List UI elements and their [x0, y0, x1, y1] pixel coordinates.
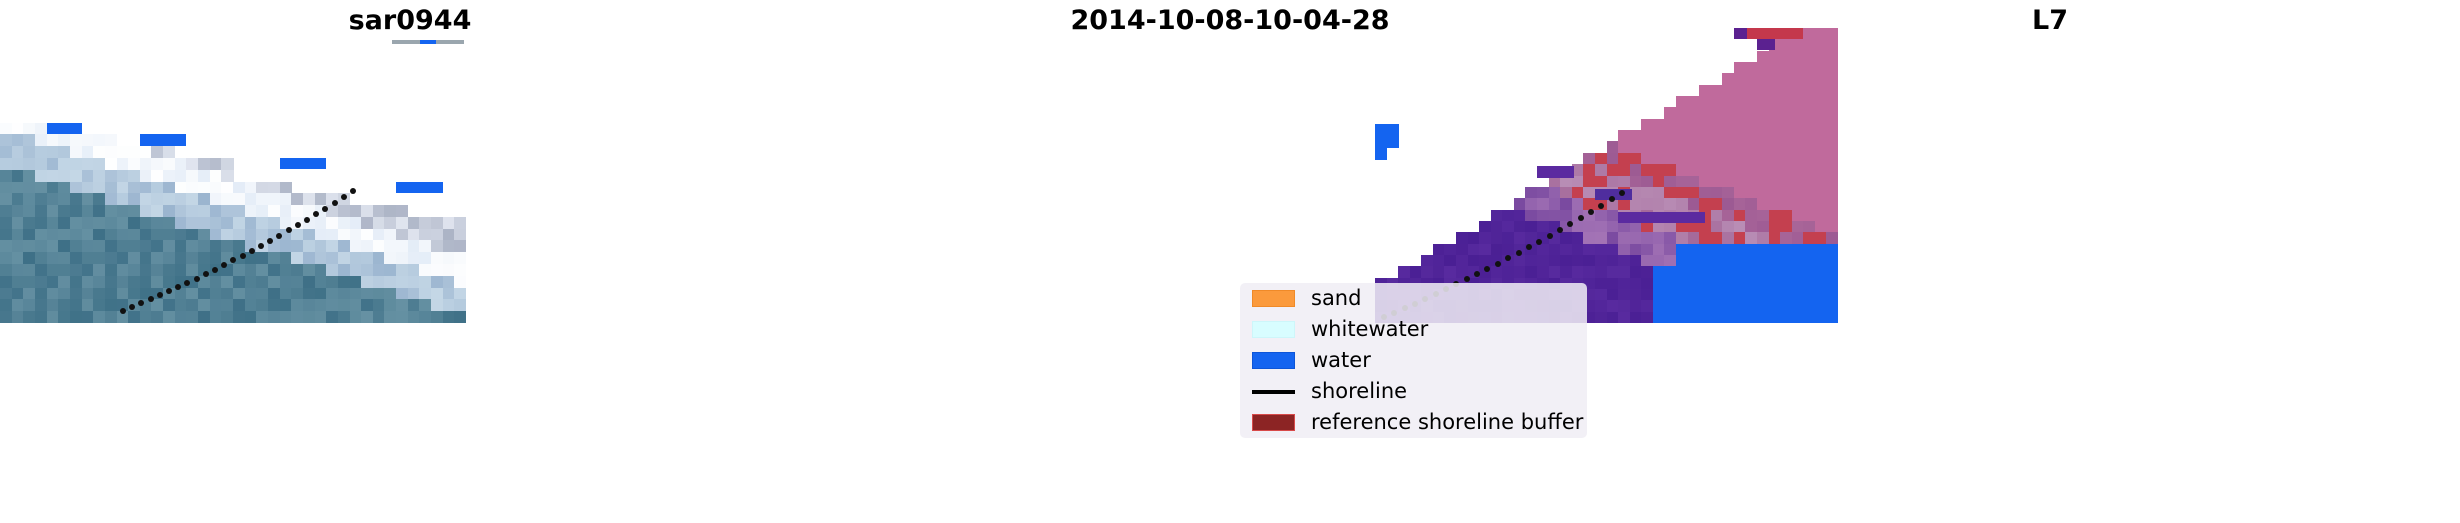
shoreline-dot — [1578, 215, 1584, 221]
shoreline-dot — [341, 194, 347, 200]
legend-item-whitewater[interactable]: whitewater — [1240, 314, 1587, 345]
panel-classified: 2014-10-08-10-04-28 — [820, 0, 1640, 523]
shoreline-dot — [194, 276, 200, 282]
whitewater-swatch-icon — [1252, 321, 1295, 338]
legend-label-sand: sand — [1311, 288, 1361, 309]
sand-swatch-icon — [1252, 290, 1295, 307]
legend-item-shoreline[interactable]: shoreline — [1240, 376, 1587, 407]
panel-sar0944: sar0944 — [0, 0, 820, 523]
figure-canvas: sar0944 2014-10-08-10-04-28 L7 sand whit… — [0, 0, 2460, 523]
detached-strip-water-pixel — [420, 40, 436, 44]
shoreline-dot — [295, 222, 301, 228]
shoreline-dot — [203, 271, 209, 277]
panel-1-raster — [0, 40, 466, 323]
shoreline-dot — [120, 308, 126, 314]
shoreline-dot — [332, 200, 338, 206]
shoreline-dot — [1536, 239, 1542, 245]
shoreline-dot — [322, 206, 328, 212]
reference-buffer-swatch-icon — [1252, 414, 1295, 431]
panel-1-title: sar0944 — [0, 6, 820, 36]
legend-item-reference-buffer[interactable]: reference shoreline buffer — [1240, 407, 1587, 438]
legend-label-whitewater: whitewater — [1311, 319, 1428, 340]
shoreline-dot — [212, 267, 218, 273]
shoreline-dot — [1619, 190, 1625, 196]
legend[interactable]: sand whitewater water shoreline referenc… — [1240, 283, 1587, 438]
shoreline-dot — [148, 296, 154, 302]
panel-1-axes[interactable] — [0, 40, 466, 323]
shoreline-dot — [1495, 261, 1501, 267]
shoreline-dot — [1557, 227, 1563, 233]
shoreline-dot — [1516, 250, 1522, 256]
shoreline-dot — [249, 248, 255, 254]
legend-item-sand[interactable]: sand — [1240, 283, 1587, 314]
water-swatch-icon — [1252, 352, 1295, 369]
panel-3-title: L7 — [1640, 6, 2460, 36]
shoreline-dot — [304, 217, 310, 223]
legend-label-reference-buffer: reference shoreline buffer — [1311, 412, 1583, 433]
legend-label-water: water — [1311, 350, 1371, 371]
shoreline-dot — [1588, 209, 1594, 215]
legend-item-water[interactable]: water — [1240, 345, 1587, 376]
shoreline-line-icon — [1252, 390, 1295, 394]
shoreline-dot — [258, 243, 264, 249]
shoreline-dot — [1547, 233, 1553, 239]
shoreline-dot — [267, 238, 273, 244]
shoreline-dot — [240, 253, 246, 259]
panel-l7: L7 — [1640, 0, 2460, 523]
shoreline-dot — [1598, 203, 1604, 209]
shoreline-dot — [350, 188, 356, 194]
legend-label-shoreline: shoreline — [1311, 381, 1407, 402]
